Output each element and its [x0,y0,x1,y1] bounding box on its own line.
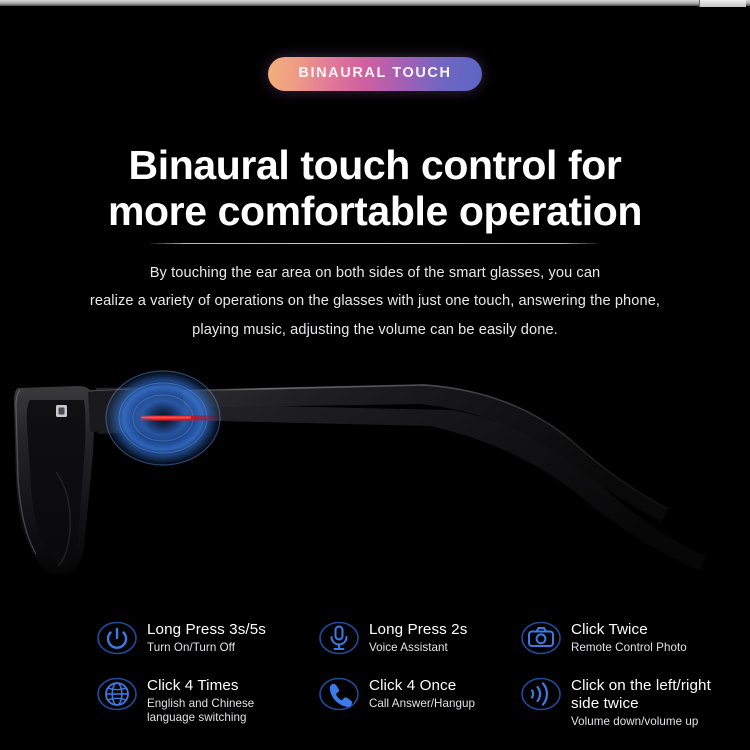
feature-item-power: Long Press 3s/5s Turn On/Turn Off [96,620,314,662]
feature-subtitle: Remote Control Photo [571,641,750,655]
feature-subtitle: English and Chinese language switching [147,697,314,726]
body-line-1: By touching the ear area on both sides o… [20,259,730,287]
feature-subtitle: Volume down/volume up [571,715,750,729]
binaural-touch-badge: BINAURAL TOUCH [268,57,481,91]
feature-subtitle: Turn On/Turn Off [147,641,314,655]
microphone-icon [318,617,360,659]
body-line-3: playing music, adjusting the volume can … [20,316,730,344]
feature-item-volume: Click on the left/right side twice Volum… [520,676,750,729]
feature-list: Long Press 3s/5s Turn On/Turn Off Long P… [96,620,750,742]
feature-text: Click 4 Times English and Chinese langua… [147,676,314,726]
feature-title: Long Press 2s [369,621,518,639]
feature-text: Click Twice Remote Control Photo [571,620,750,655]
feature-title: Click Twice [571,621,750,639]
badge-container: BINAURAL TOUCH [0,57,750,91]
globe-icon [96,673,138,715]
top-chrome-notch [699,0,746,7]
headline-line-2: more comfortable operation [0,189,750,235]
feature-text: Click 4 Once Call Answer/Hangup [369,676,518,711]
phone-icon [318,673,360,715]
feature-item-voice-assistant: Long Press 2s Voice Assistant [318,620,518,662]
feature-text: Long Press 2s Voice Assistant [369,620,518,655]
top-chrome-strip [0,0,750,6]
feature-subtitle: Voice Assistant [369,641,518,655]
feature-item-language: Click 4 Times English and Chinese langua… [96,676,314,726]
feature-item-remote-photo: Click Twice Remote Control Photo [520,620,750,662]
feature-text: Click on the left/right side twice Volum… [571,676,750,729]
feature-text: Long Press 3s/5s Turn On/Turn Off [147,620,314,655]
feature-title: Click 4 Once [369,677,518,695]
feature-subtitle: Call Answer/Hangup [369,697,518,711]
feature-item-call: Click 4 Once Call Answer/Hangup [318,676,518,718]
product-image [0,360,750,610]
camera-icon [520,617,562,659]
body-line-2: realize a variety of operations on the g… [20,287,730,315]
touch-beam [140,416,218,421]
body-paragraph: By touching the ear area on both sides o… [20,259,730,344]
headline-line-1: Binaural touch control for [0,143,750,189]
feature-title: Click on the left/right side twice [571,677,750,713]
feature-title: Click 4 Times [147,677,314,695]
divider [150,243,598,244]
feature-title: Long Press 3s/5s [147,621,314,639]
power-icon [96,617,138,659]
sound-waves-icon [520,673,562,715]
page-title: Binaural touch control for more comforta… [0,143,750,235]
product-marketing-page: BINAURAL TOUCH Binaural touch control fo… [0,0,750,750]
